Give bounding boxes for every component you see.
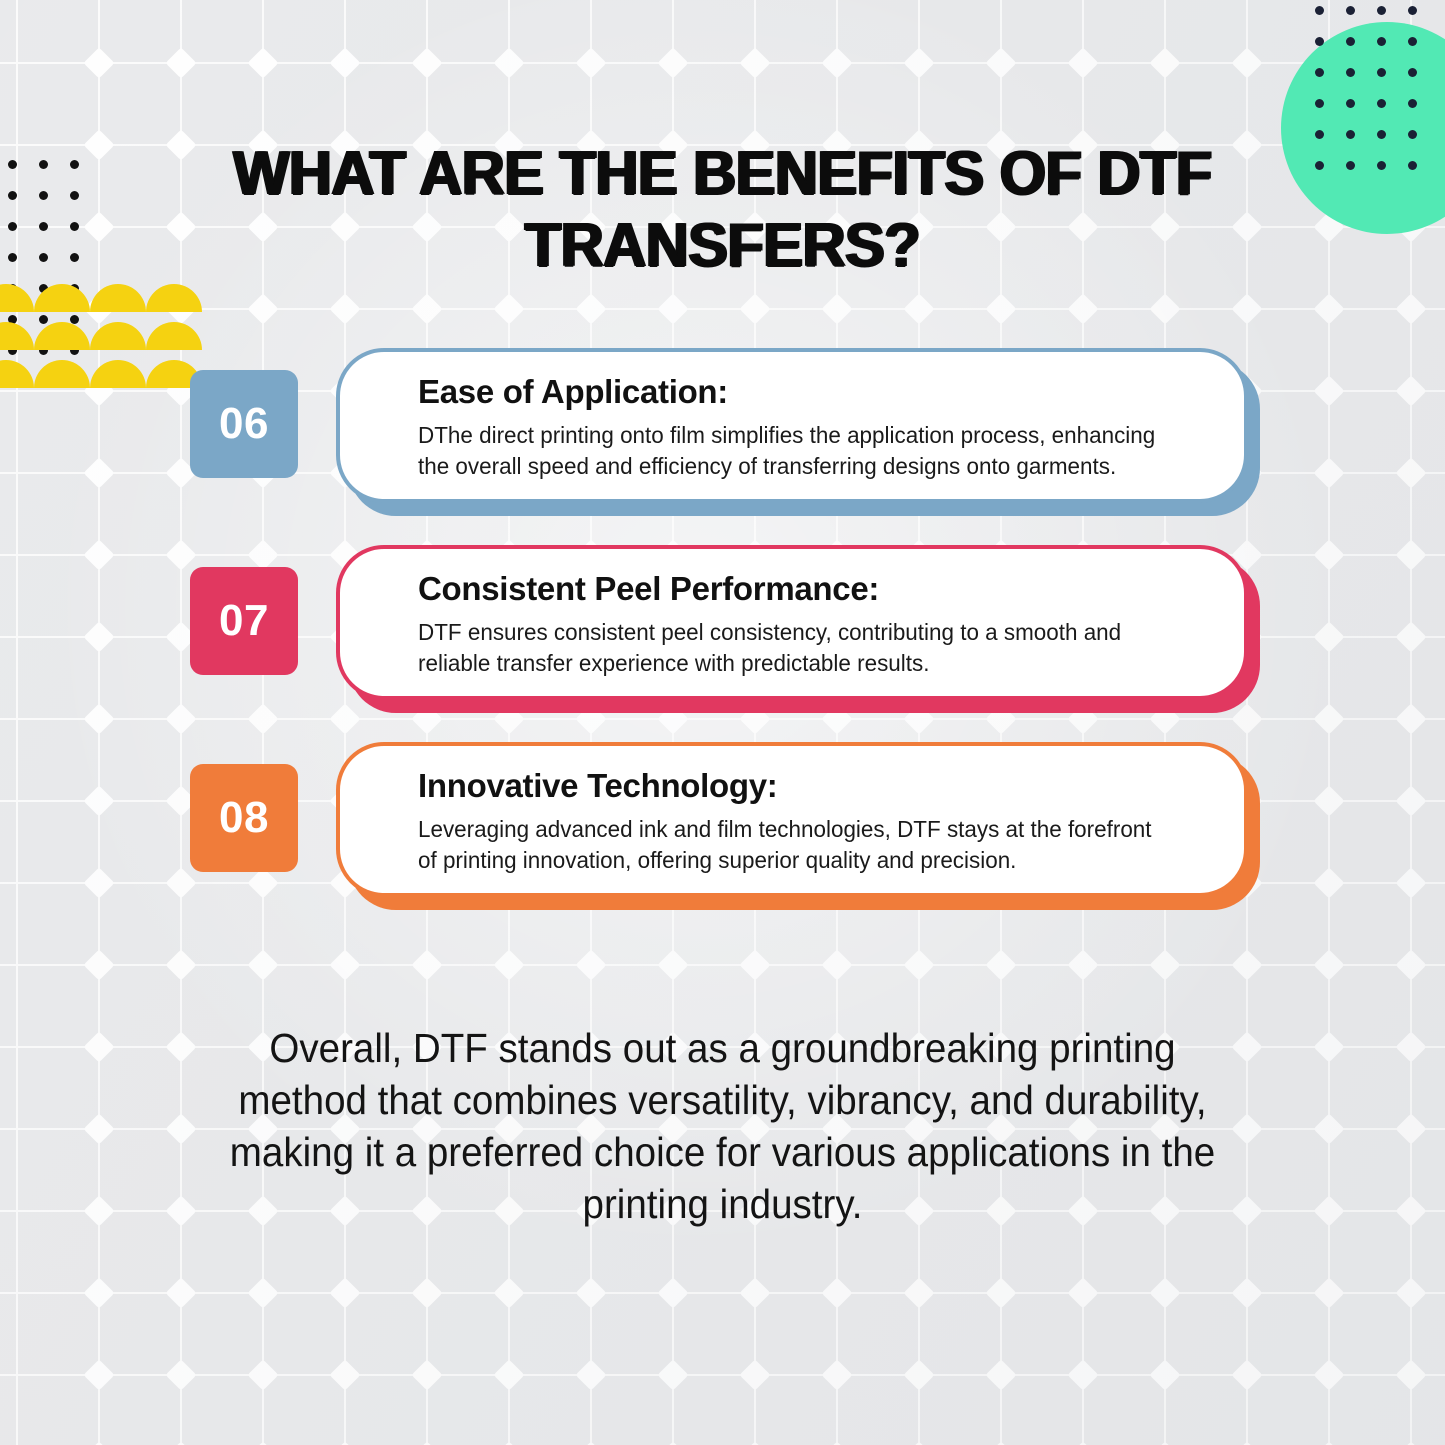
grid-diamond: [1395, 949, 1426, 980]
grid-diamond: [1231, 949, 1262, 980]
grid-diamond: [83, 1441, 114, 1445]
grid-diamond: [165, 1195, 196, 1226]
grid-diamond: [1067, 47, 1098, 78]
decorative-dot: [1315, 6, 1324, 15]
benefit-body: DTF ensures consistent peel consistency,…: [418, 617, 1169, 679]
decorative-dot: [1377, 6, 1386, 15]
grid-diamond: [821, 1359, 852, 1390]
semicircle-shape: [34, 284, 90, 312]
grid-diamond: [493, 1277, 524, 1308]
decorative-dot: [1315, 99, 1324, 108]
decorative-dot: [1346, 68, 1355, 77]
grid-diamond: [165, 867, 196, 898]
decorative-dot: [1377, 37, 1386, 46]
grid-diamond: [1313, 703, 1344, 734]
grid-diamond: [493, 1441, 524, 1445]
decorative-dot: [39, 191, 48, 200]
dot-grid-decoration-top-right: [1315, 6, 1445, 181]
closing-paragraph: Overall, DTF stands out as a groundbreak…: [203, 1022, 1242, 1230]
semicircle-shape: [90, 284, 146, 312]
decorative-dot: [1408, 68, 1417, 77]
grid-diamond: [1395, 785, 1426, 816]
grid-diamond: [903, 949, 934, 980]
grid-diamond: [1067, 293, 1098, 324]
grid-diamond: [821, 949, 852, 980]
semicircle-shape: [0, 322, 34, 350]
grid-diamond: [575, 47, 606, 78]
benefit-body: Leveraging advanced ink and film technol…: [418, 814, 1169, 876]
grid-diamond: [329, 47, 360, 78]
grid-diamond: [1395, 1359, 1426, 1390]
grid-diamond: [165, 1277, 196, 1308]
grid-diamond: [903, 1359, 934, 1390]
decorative-dot: [1377, 99, 1386, 108]
grid-diamond: [83, 1113, 114, 1144]
panel-surface: Consistent Peel Performance: DTF ensures…: [336, 545, 1248, 700]
grid-diamond: [83, 949, 114, 980]
grid-diamond: [657, 1359, 688, 1390]
grid-diamond: [657, 293, 688, 324]
benefit-heading: Innovative Technology:: [418, 766, 1204, 806]
panel-surface: Ease of Application: DThe direct printin…: [336, 348, 1248, 503]
semicircle-shape: [0, 360, 34, 388]
grid-diamond: [1313, 621, 1344, 652]
grid-diamond: [83, 1277, 114, 1308]
decorative-dot: [1408, 161, 1417, 170]
semicircle-decoration-left: [0, 284, 158, 394]
panel-surface: Innovative Technology: Leveraging advanc…: [336, 742, 1248, 897]
grid-diamond: [821, 1441, 852, 1445]
decorative-dot: [1346, 161, 1355, 170]
grid-diamond: [1231, 1277, 1262, 1308]
grid-diamond: [903, 1277, 934, 1308]
grid-diamond: [83, 867, 114, 898]
badge-number-06: 06: [190, 370, 298, 478]
grid-diamond: [411, 1359, 442, 1390]
grid-diamond: [411, 293, 442, 324]
grid-diamond: [1313, 1031, 1344, 1062]
grid-diamond: [1231, 1359, 1262, 1390]
grid-diamond: [1231, 293, 1262, 324]
grid-diamond: [247, 293, 278, 324]
grid-diamond: [1149, 47, 1180, 78]
grid-diamond: [1395, 1195, 1426, 1226]
grid-diamond: [411, 1277, 442, 1308]
grid-diamond: [493, 293, 524, 324]
grid-diamond: [83, 129, 114, 160]
grid-diamond: [1149, 1441, 1180, 1445]
grid-diamond: [985, 1441, 1016, 1445]
grid-diamond: [1313, 1277, 1344, 1308]
grid-diamond: [83, 1031, 114, 1062]
decorative-dot: [1315, 37, 1324, 46]
grid-diamond: [1313, 539, 1344, 570]
grid-diamond: [985, 1277, 1016, 1308]
grid-diamond: [247, 867, 278, 898]
grid-diamond: [657, 47, 688, 78]
semicircle-shape: [34, 322, 90, 350]
grid-diamond: [247, 1277, 278, 1308]
grid-diamond: [1313, 867, 1344, 898]
grid-diamond: [1231, 47, 1262, 78]
infographic-poster: WHAT ARE THE BENEFITS OF DTF TRANSFERS? …: [0, 0, 1445, 1445]
decorative-dot: [1315, 130, 1324, 139]
grid-diamond: [411, 1441, 442, 1445]
grid-diamond: [1395, 1113, 1426, 1144]
decorative-dot: [8, 160, 17, 169]
grid-diamond: [83, 539, 114, 570]
semicircle-shape: [90, 360, 146, 388]
grid-diamond: [1313, 1441, 1344, 1445]
grid-diamond: [1395, 1441, 1426, 1445]
grid-diamond: [1313, 1359, 1344, 1390]
decorative-dot: [1346, 37, 1355, 46]
grid-diamond: [903, 1441, 934, 1445]
decorative-dot: [1377, 130, 1386, 139]
grid-diamond: [165, 703, 196, 734]
grid-diamond: [1395, 293, 1426, 324]
grid-diamond: [1313, 293, 1344, 324]
decorative-dot: [1346, 130, 1355, 139]
grid-diamond: [83, 1359, 114, 1390]
decorative-dot: [1346, 99, 1355, 108]
grid-diamond: [575, 293, 606, 324]
grid-diamond: [1067, 949, 1098, 980]
decorative-dot: [70, 253, 79, 262]
grid-diamond: [1395, 621, 1426, 652]
grid-diamond: [1149, 1277, 1180, 1308]
decorative-dot: [39, 160, 48, 169]
grid-diamond: [1067, 1359, 1098, 1390]
decorative-dot: [1408, 37, 1417, 46]
grid-diamond: [329, 949, 360, 980]
grid-diamond: [821, 293, 852, 324]
decorative-dot: [1315, 161, 1324, 170]
grid-diamond: [1149, 293, 1180, 324]
grid-diamond: [1395, 1031, 1426, 1062]
badge-number-08: 08: [190, 764, 298, 872]
grid-diamond: [739, 1441, 770, 1445]
decorative-dot: [39, 222, 48, 231]
decorative-dot: [1377, 68, 1386, 77]
grid-diamond: [575, 949, 606, 980]
grid-diamond: [1313, 375, 1344, 406]
grid-diamond: [821, 1277, 852, 1308]
grid-diamond: [1149, 1359, 1180, 1390]
decorative-dot: [1408, 130, 1417, 139]
benefit-panel-07: Consistent Peel Performance: DTF ensures…: [336, 545, 1260, 713]
benefit-heading: Consistent Peel Performance:: [418, 569, 1204, 609]
grid-diamond: [83, 1195, 114, 1226]
grid-diamond: [1313, 1113, 1344, 1144]
grid-diamond: [165, 47, 196, 78]
grid-diamond: [329, 1359, 360, 1390]
grid-diamond: [165, 539, 196, 570]
decorative-dot: [70, 160, 79, 169]
decorative-dot: [1377, 161, 1386, 170]
grid-diamond: [247, 1359, 278, 1390]
grid-diamond: [83, 457, 114, 488]
grid-diamond: [1313, 1195, 1344, 1226]
grid-diamond: [165, 1031, 196, 1062]
decorative-dot: [8, 253, 17, 262]
grid-diamond: [985, 47, 1016, 78]
semicircle-shape: [34, 360, 90, 388]
decorative-dot: [8, 191, 17, 200]
grid-diamond: [83, 703, 114, 734]
grid-diamond: [83, 785, 114, 816]
semicircle-shape: [0, 284, 34, 312]
grid-diamond: [1395, 1277, 1426, 1308]
grid-diamond: [411, 949, 442, 980]
grid-diamond: [165, 1441, 196, 1445]
grid-diamond: [1395, 457, 1426, 488]
decorative-dot: [1408, 6, 1417, 15]
decorative-dot: [70, 222, 79, 231]
grid-diamond: [247, 1441, 278, 1445]
semicircle-shape: [90, 322, 146, 350]
decorative-dot: [39, 253, 48, 262]
benefit-panel-06: Ease of Application: DThe direct printin…: [336, 348, 1260, 516]
grid-diamond: [1067, 1441, 1098, 1445]
grid-diamond: [493, 1359, 524, 1390]
grid-diamond: [1149, 949, 1180, 980]
grid-diamond: [83, 47, 114, 78]
grid-diamond: [247, 539, 278, 570]
decorative-dot: [8, 222, 17, 231]
decorative-dot: [1346, 6, 1355, 15]
grid-diamond: [1313, 785, 1344, 816]
grid-diamond: [493, 949, 524, 980]
decorative-dot: [1315, 68, 1324, 77]
grid-diamond: [165, 1113, 196, 1144]
grid-diamond: [1313, 457, 1344, 488]
grid-diamond: [575, 1441, 606, 1445]
grid-diamond: [985, 293, 1016, 324]
grid-diamond: [329, 293, 360, 324]
grid-diamond: [1231, 1441, 1262, 1445]
grid-diamond: [247, 949, 278, 980]
grid-diamond: [657, 1441, 688, 1445]
grid-diamond: [83, 621, 114, 652]
page-title: WHAT ARE THE BENEFITS OF DTF TRANSFERS?: [183, 138, 1263, 282]
grid-diamond: [985, 1359, 1016, 1390]
grid-diamond: [985, 949, 1016, 980]
grid-diamond: [575, 1359, 606, 1390]
grid-diamond: [1313, 949, 1344, 980]
grid-diamond: [165, 949, 196, 980]
grid-diamond: [411, 47, 442, 78]
badge-number-07: 07: [190, 567, 298, 675]
grid-diamond: [247, 47, 278, 78]
grid-diamond: [903, 293, 934, 324]
grid-diamond: [1395, 375, 1426, 406]
grid-diamond: [1395, 867, 1426, 898]
grid-diamond: [821, 47, 852, 78]
benefit-panel-08: Innovative Technology: Leveraging advanc…: [336, 742, 1260, 910]
grid-diamond: [657, 1277, 688, 1308]
grid-diamond: [1395, 703, 1426, 734]
decorative-dot: [1408, 99, 1417, 108]
benefit-heading: Ease of Application:: [418, 372, 1204, 412]
grid-diamond: [739, 949, 770, 980]
grid-diamond: [739, 1359, 770, 1390]
grid-diamond: [575, 1277, 606, 1308]
benefit-body: DThe direct printing onto film simplifie…: [418, 420, 1169, 482]
grid-diamond: [247, 703, 278, 734]
grid-diamond: [1395, 539, 1426, 570]
decorative-dot: [70, 191, 79, 200]
grid-diamond: [329, 1277, 360, 1308]
grid-diamond: [165, 1359, 196, 1390]
grid-diamond: [903, 47, 934, 78]
grid-diamond: [739, 47, 770, 78]
grid-diamond: [493, 47, 524, 78]
grid-diamond: [657, 949, 688, 980]
grid-diamond: [1067, 1277, 1098, 1308]
grid-diamond: [329, 1441, 360, 1445]
grid-diamond: [739, 1277, 770, 1308]
grid-diamond: [739, 293, 770, 324]
